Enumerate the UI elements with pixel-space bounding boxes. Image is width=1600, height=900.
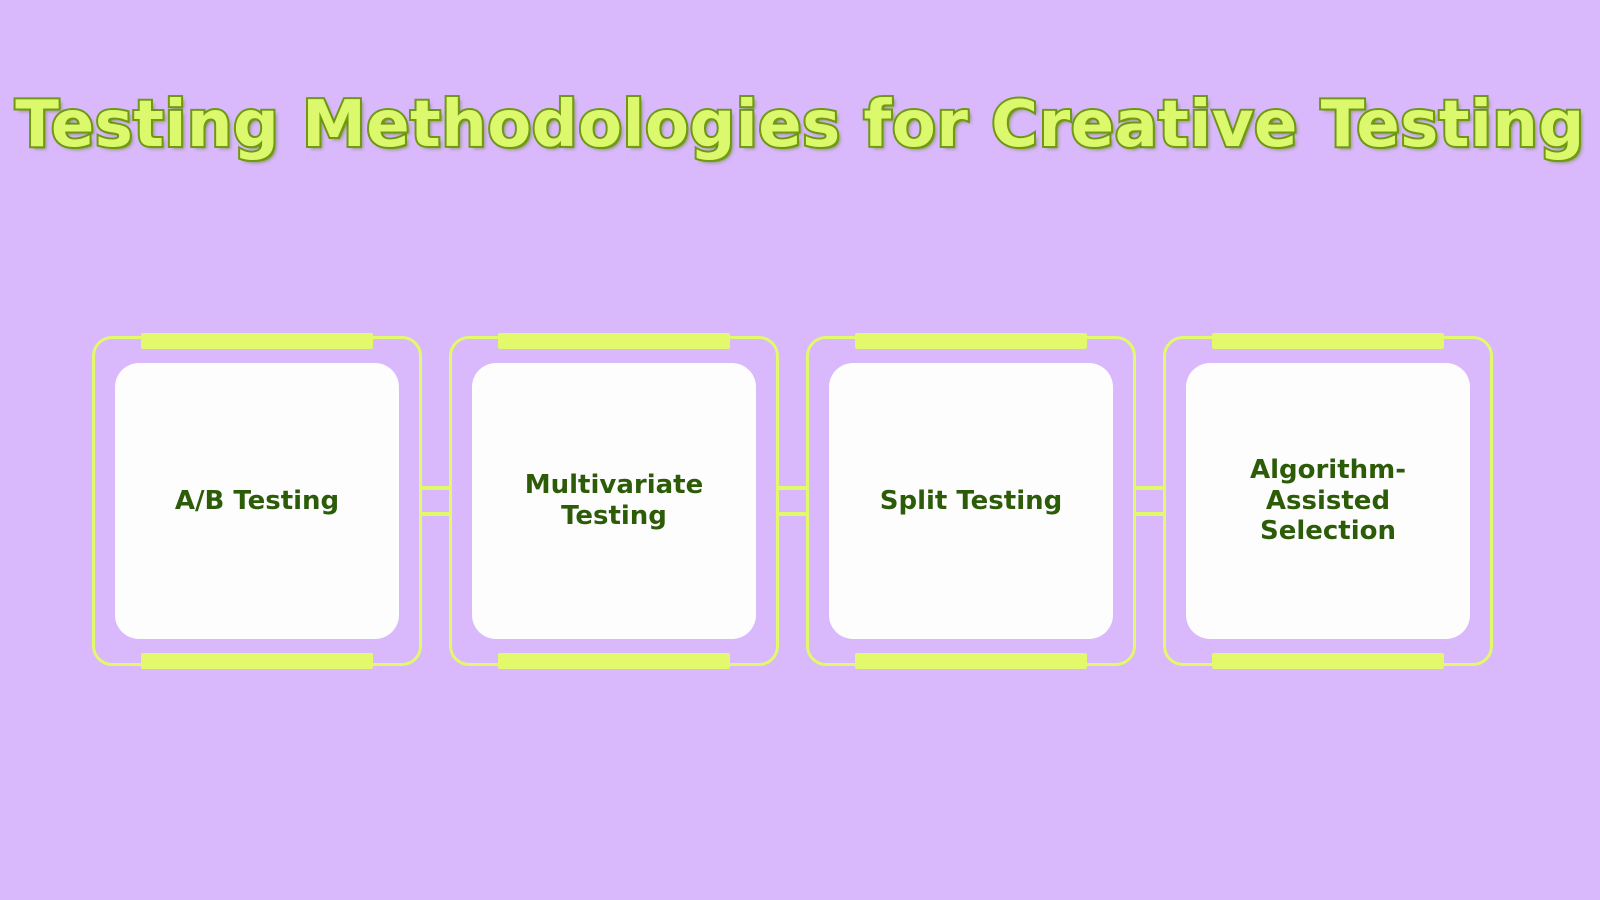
step-3-label: Split Testing <box>880 486 1063 517</box>
process-step-1[interactable]: A/B Testing <box>92 336 422 666</box>
connector-2-3 <box>779 486 806 516</box>
step-4-bottom-accent-bar <box>1212 653 1444 669</box>
connector-3-4 <box>1136 486 1163 516</box>
step-1-bottom-accent-bar <box>141 653 373 669</box>
step-2-card[interactable]: Multivariate Testing <box>472 363 756 639</box>
step-2-top-accent-bar <box>498 333 730 349</box>
step-1-top-accent-bar <box>141 333 373 349</box>
process-step-2[interactable]: Multivariate Testing <box>449 336 779 666</box>
process-step-4[interactable]: Algorithm- Assisted Selection <box>1163 336 1493 666</box>
step-2-bottom-accent-bar <box>498 653 730 669</box>
page-title: Testing Methodologies for Creative Testi… <box>15 88 1585 162</box>
step-4-label: Algorithm- Assisted Selection <box>1204 455 1452 547</box>
step-1-label: A/B Testing <box>175 486 339 517</box>
step-2-label: Multivariate Testing <box>525 470 703 531</box>
step-1-card[interactable]: A/B Testing <box>115 363 399 639</box>
step-4-top-accent-bar <box>1212 333 1444 349</box>
step-4-card[interactable]: Algorithm- Assisted Selection <box>1186 363 1470 639</box>
connector-1-2 <box>422 486 449 516</box>
step-3-card[interactable]: Split Testing <box>829 363 1113 639</box>
process-step-3[interactable]: Split Testing <box>806 336 1136 666</box>
step-3-top-accent-bar <box>855 333 1087 349</box>
title-container: Testing Methodologies for Creative Testi… <box>0 88 1600 162</box>
process-chain-diagram: A/B Testing Multivariate Testing Split T… <box>92 336 1478 666</box>
step-3-bottom-accent-bar <box>855 653 1087 669</box>
